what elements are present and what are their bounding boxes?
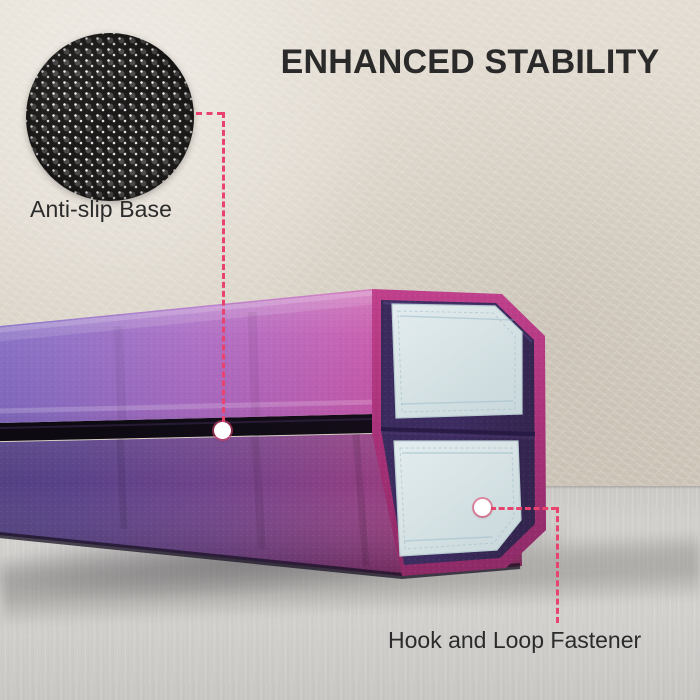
fastener-leader-horizontal — [490, 507, 557, 510]
fastener-leader-vertical — [556, 507, 559, 623]
anti-slip-marker-dot — [214, 422, 231, 439]
anti-slip-texture-swatch — [26, 33, 194, 201]
fastener-patch-upper — [392, 304, 522, 418]
anti-slip-base-label: Anti-slip Base — [30, 196, 230, 223]
anti-slip-leader-horizontal — [196, 112, 223, 115]
product-infographic-scene: ENHANCED STABILITY Anti-slip Base Hook a… — [0, 0, 700, 700]
page-title: ENHANCED STABILITY — [250, 43, 690, 82]
fastener-marker-dot — [474, 499, 491, 516]
hook-and-loop-fastener-label: Hook and Loop Fastener — [388, 627, 688, 654]
fastener-patch-lower — [394, 441, 521, 556]
anti-slip-leader-vertical — [222, 112, 225, 431]
